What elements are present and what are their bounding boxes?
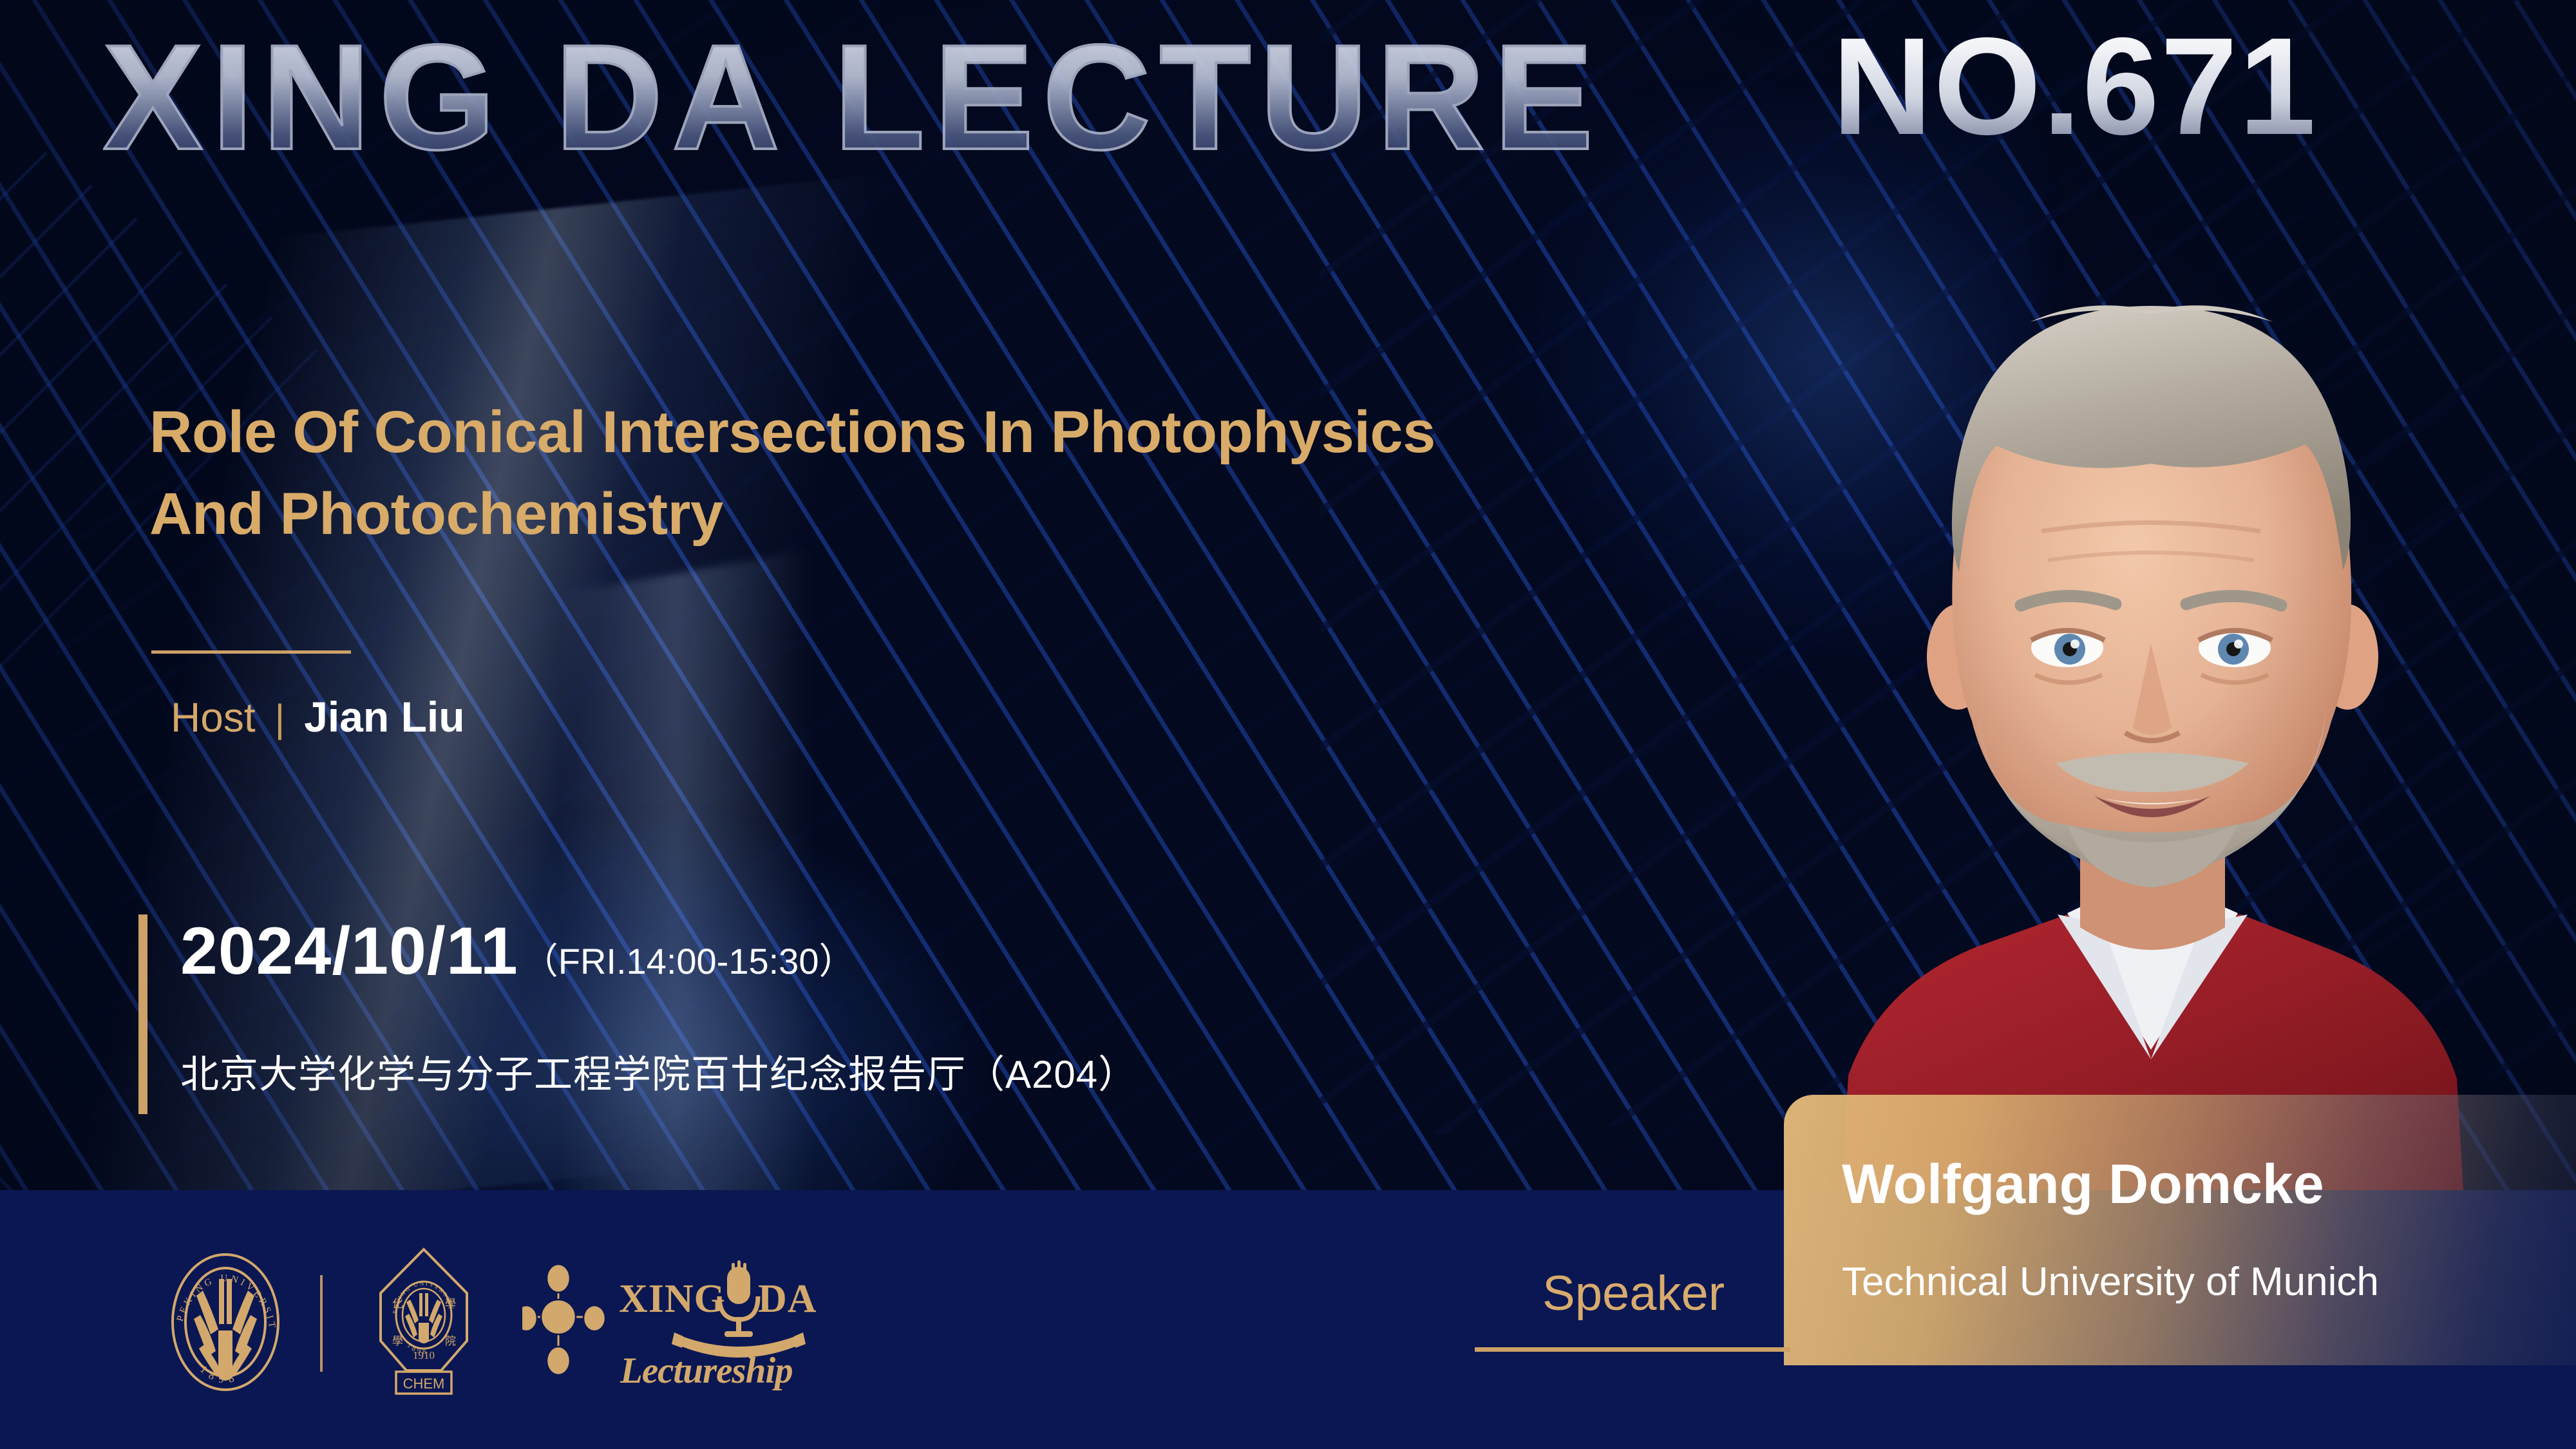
poster-header: XING DA LECTURE NO.671 [0, 0, 2576, 213]
lecture-poster: XING DA LECTURE NO.671 Role Of Conical I… [0, 0, 2576, 1449]
svg-text:DA: DA [758, 1277, 817, 1321]
pku-chem-emblem-icon: PEKING UNIVERSITY 1898 化 學 學 [356, 1243, 491, 1404]
lecture-title-line-2: And Photochemistry [149, 473, 1437, 555]
gold-accent-bar [138, 914, 147, 1114]
svg-text:學: 學 [445, 1298, 456, 1311]
host-label: Host [171, 694, 256, 741]
peking-university-seal-icon: PEKING UNIVERSITY 1898 [164, 1248, 287, 1399]
lecture-title-line-1: Role Of Conical Intersections In Photoph… [149, 392, 1437, 473]
svg-text:Lectureship: Lectureship [620, 1350, 793, 1391]
host-name: Jian Liu [304, 692, 464, 741]
host-separator: | [275, 696, 285, 741]
speaker-affiliation: Technical University of Munich [1842, 1259, 2379, 1305]
series-title: XING DA LECTURE [103, 12, 1602, 184]
host-row: Host | Jian Liu [171, 692, 465, 741]
svg-text:學: 學 [392, 1335, 403, 1348]
lecture-number: NO.671 [1832, 6, 2317, 166]
speaker-label: Speaker [1542, 1265, 1725, 1321]
lecture-date: 2024/10/11 [180, 913, 518, 990]
lecture-title: Role Of Conical Intersections In Photoph… [149, 392, 1437, 555]
logo-divider [320, 1275, 323, 1372]
lecture-time: （FRI.14:00-15:30） [522, 933, 855, 985]
lecture-venue: 北京大学化学与分子工程学院百廿纪念报告厅（A204） [180, 1043, 1137, 1099]
speaker-panel [1784, 1095, 2576, 1365]
speaker-portrait [1765, 193, 2537, 1191]
svg-text:院: 院 [445, 1335, 456, 1348]
xingda-lectureship-logo-icon: XING DA Lec [522, 1253, 851, 1394]
date-time-row: 2024/10/11 （FRI.14:00-15:30） [180, 913, 855, 990]
svg-text:化: 化 [392, 1298, 403, 1311]
svg-text:XING: XING [619, 1277, 726, 1321]
speaker-underline [1475, 1347, 1790, 1352]
svg-text:CHEM: CHEM [403, 1376, 445, 1392]
footer-logo-group: PEKING UNIVERSITY 1898 [164, 1243, 851, 1404]
gold-divider-rule [151, 650, 351, 654]
svg-text:1910: 1910 [413, 1349, 435, 1361]
speaker-name: Wolfgang Domcke [1842, 1153, 2324, 1217]
